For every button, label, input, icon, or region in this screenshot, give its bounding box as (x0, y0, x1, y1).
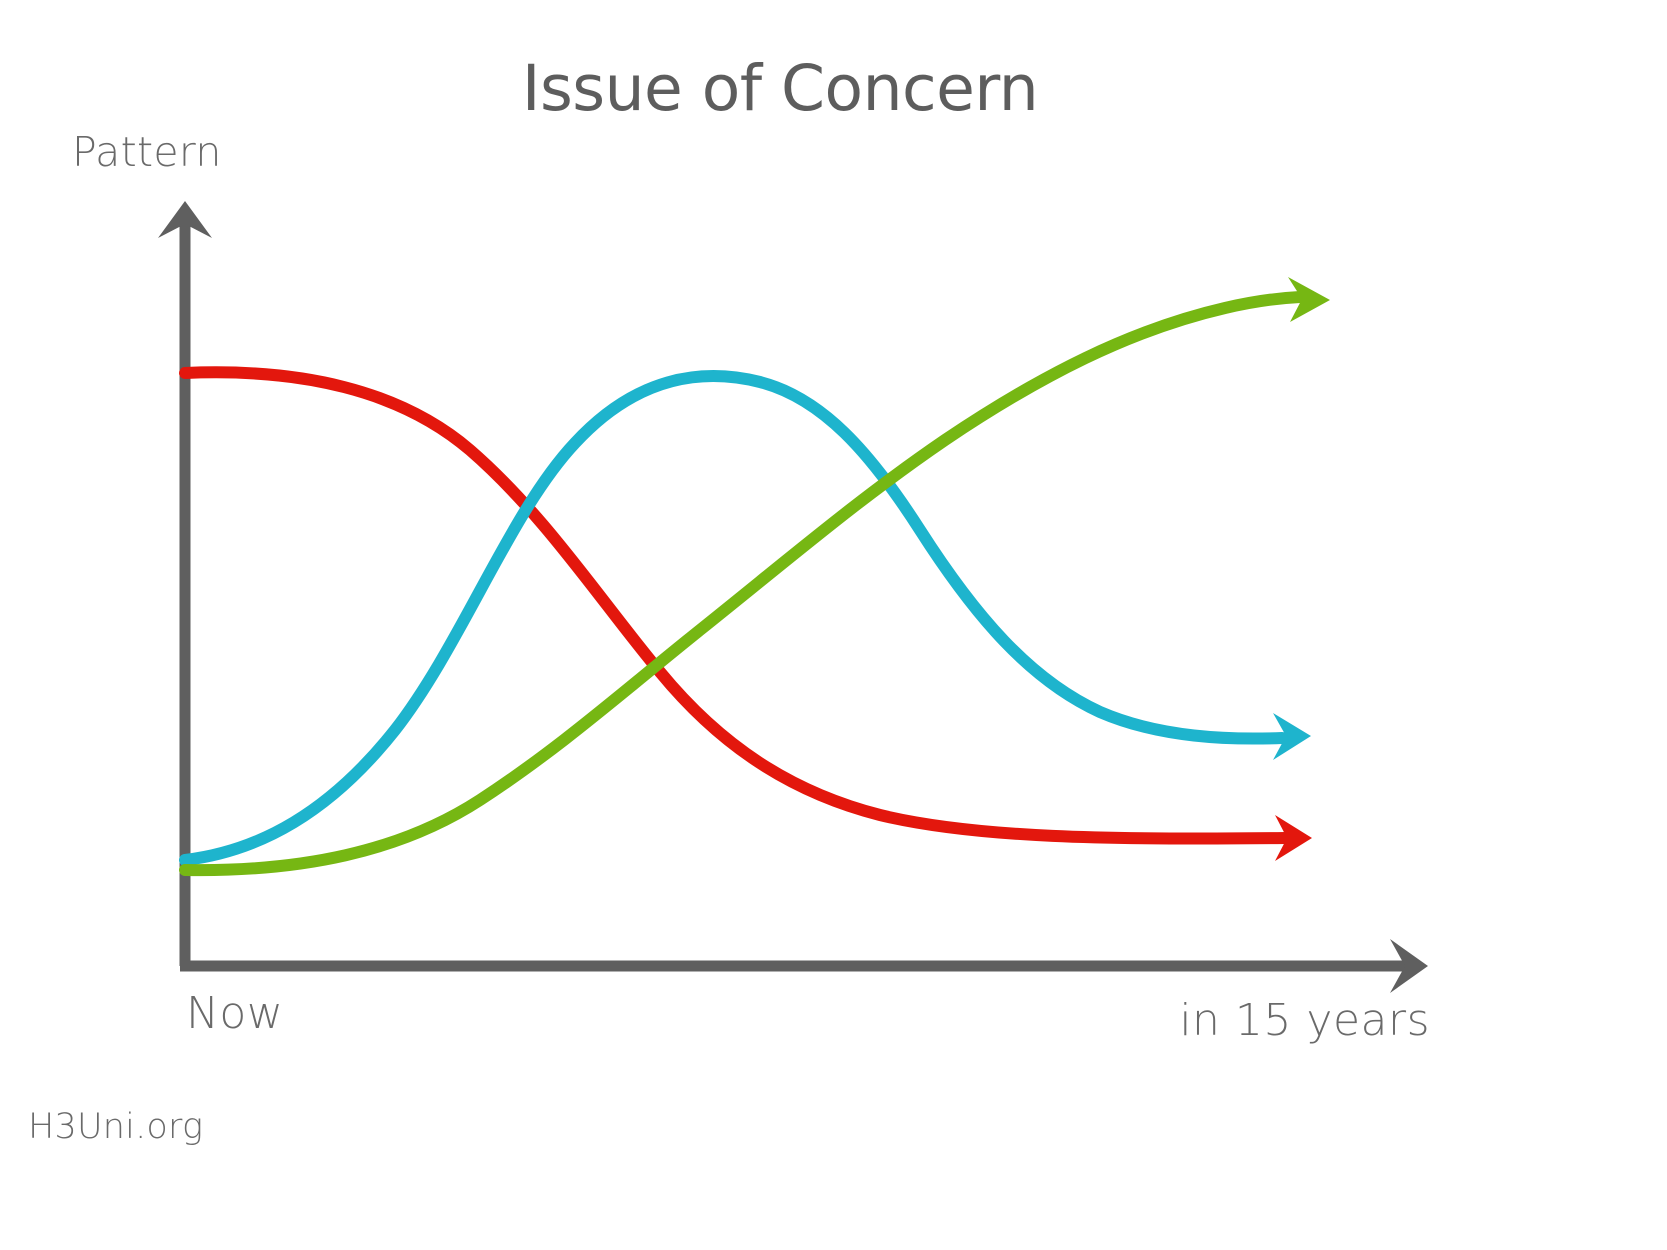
x-axis-end-label: in 15 years (1000, 995, 1430, 1046)
plot-area (0, 0, 1667, 1250)
series-horizon3-green (185, 277, 1330, 870)
horizon2-cyan-line (185, 376, 1282, 860)
series-horizon1-red (185, 372, 1312, 861)
x-axis-start-label: Now (186, 988, 283, 1039)
chart-canvas: Issue of Concern Pattern (0, 0, 1667, 1250)
series-horizon2-cyan (185, 376, 1311, 860)
footer-brand-label: H3Uni.org (28, 1107, 203, 1147)
axes-group (158, 201, 1428, 993)
